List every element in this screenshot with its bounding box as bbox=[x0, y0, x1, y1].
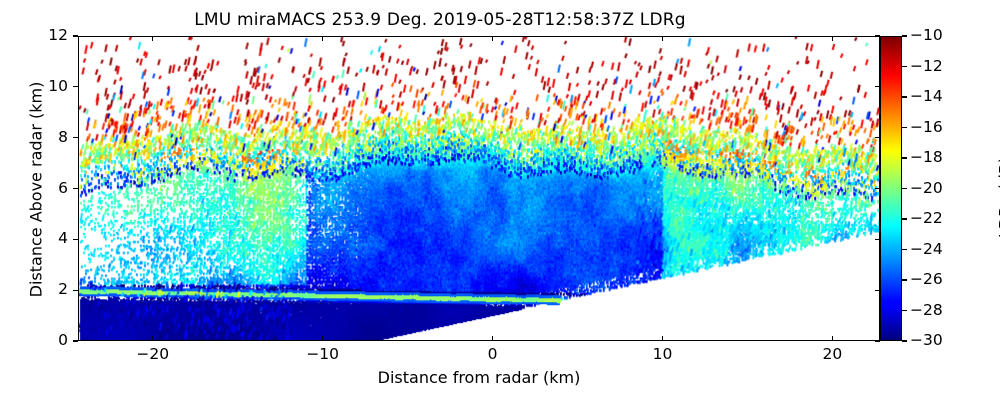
y-tick-mark bbox=[73, 188, 78, 189]
colorbar-tick-mark bbox=[902, 310, 907, 311]
y-tick-mark bbox=[73, 340, 78, 341]
x-tick-label: 0 bbox=[458, 345, 528, 363]
x-tick-mark bbox=[492, 36, 493, 41]
colorbar-title: LDRg (dB) bbox=[996, 43, 1000, 353]
colorbar-tick-mark bbox=[902, 340, 907, 341]
colorbar-tick-label: −12 bbox=[910, 57, 943, 75]
y-axis-title: Distance Above radar (km) bbox=[27, 35, 46, 345]
x-tick-mark bbox=[322, 336, 323, 341]
colorbar[interactable] bbox=[880, 36, 902, 341]
x-tick-mark bbox=[322, 36, 323, 41]
plot-axes[interactable] bbox=[78, 36, 880, 341]
colorbar-tick-mark bbox=[902, 249, 907, 250]
y-tick-mark bbox=[73, 35, 78, 36]
x-tick-label: −10 bbox=[288, 345, 358, 363]
radar-heatmap-canvas bbox=[79, 37, 879, 340]
colorbar-tick-label: −10 bbox=[910, 26, 943, 44]
x-tick-mark bbox=[832, 336, 833, 341]
colorbar-tick-label: −26 bbox=[910, 270, 943, 288]
y-tick-mark bbox=[73, 239, 78, 240]
x-tick-label: 20 bbox=[797, 345, 867, 363]
y-tick-mark bbox=[73, 290, 78, 291]
colorbar-tick-mark bbox=[902, 218, 907, 219]
x-tick-mark bbox=[832, 36, 833, 41]
x-tick-mark bbox=[492, 336, 493, 341]
x-tick-label: 10 bbox=[628, 345, 698, 363]
colorbar-tick-mark bbox=[902, 35, 907, 36]
colorbar-tick-mark bbox=[902, 96, 907, 97]
colorbar-tick-label: −24 bbox=[910, 240, 943, 258]
figure-title: LMU miraMACS 253.9 Deg. 2019-05-28T12:58… bbox=[0, 10, 880, 30]
colorbar-tick-label: −14 bbox=[910, 87, 943, 105]
radar-figure: LMU miraMACS 253.9 Deg. 2019-05-28T12:58… bbox=[0, 0, 1000, 400]
y-tick-mark bbox=[73, 137, 78, 138]
colorbar-tick-mark bbox=[902, 188, 907, 189]
colorbar-tick-mark bbox=[902, 127, 907, 128]
colorbar-tick-label: −30 bbox=[910, 331, 943, 349]
colorbar-tick-mark bbox=[902, 66, 907, 67]
colorbar-tick-mark bbox=[902, 279, 907, 280]
colorbar-tick-mark bbox=[902, 157, 907, 158]
x-tick-mark bbox=[662, 36, 663, 41]
x-axis-title: Distance from radar (km) bbox=[78, 368, 880, 387]
x-tick-label: −20 bbox=[118, 345, 188, 363]
colorbar-gradient bbox=[880, 36, 902, 341]
colorbar-tick-label: −18 bbox=[910, 148, 943, 166]
colorbar-tick-label: −28 bbox=[910, 301, 943, 319]
colorbar-tick-label: −16 bbox=[910, 118, 943, 136]
colorbar-tick-label: −20 bbox=[910, 179, 943, 197]
x-tick-mark bbox=[662, 336, 663, 341]
y-tick-mark bbox=[73, 86, 78, 87]
x-tick-mark bbox=[152, 336, 153, 341]
colorbar-tick-label: −22 bbox=[910, 209, 943, 227]
x-tick-mark bbox=[152, 36, 153, 41]
colorbar-canvas bbox=[881, 37, 901, 340]
